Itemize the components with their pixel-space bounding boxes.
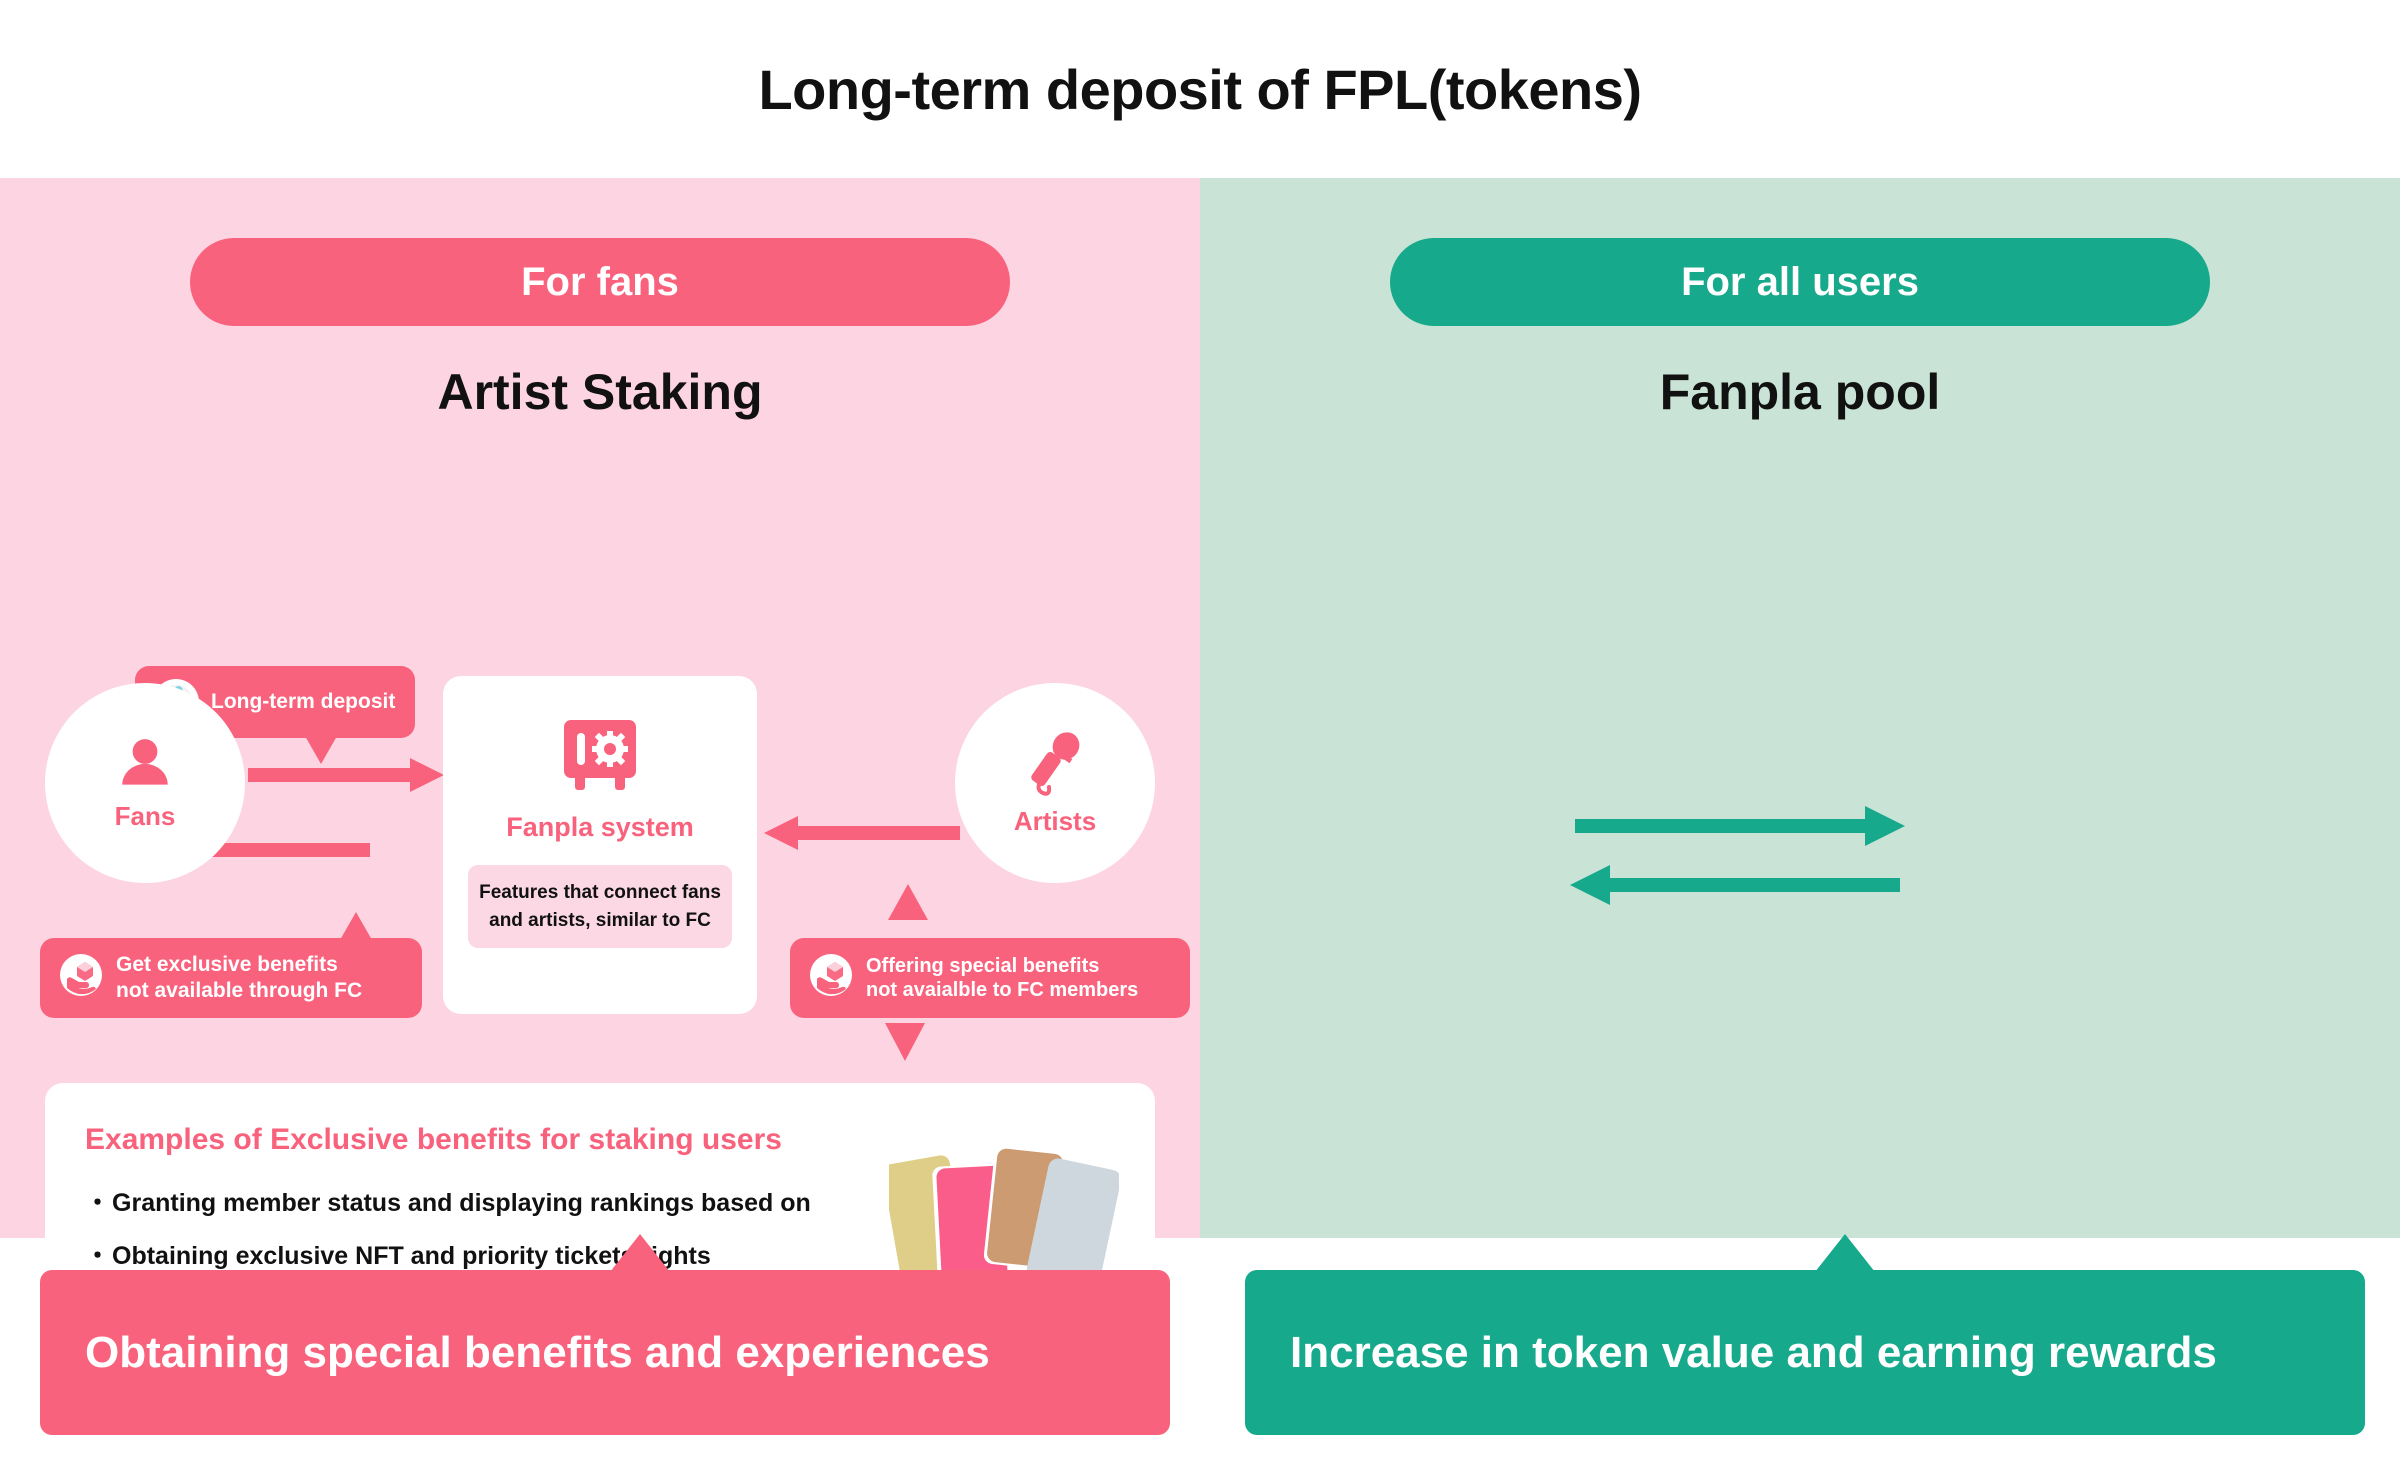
bubble-get-exclusive-benefits: Get exclusive benefits not available thr… bbox=[40, 938, 422, 1018]
line-2: not available through FC bbox=[116, 979, 362, 1002]
person-icon bbox=[114, 735, 176, 797]
bubble-long-term-deposit-label: Long-term deposit bbox=[211, 689, 395, 715]
arrow-deposit-right bbox=[1575, 806, 1905, 846]
node-artists: Artists bbox=[955, 683, 1155, 883]
offering-bubble-tail-up bbox=[888, 884, 928, 920]
note-line-1: Features that connect fans bbox=[478, 879, 722, 907]
pill-for-fans-label: For fans bbox=[521, 260, 679, 305]
banner-left-label: Obtaining special benefits and experienc… bbox=[85, 1328, 990, 1378]
banner-obtaining-special-benefits: Obtaining special benefits and experienc… bbox=[40, 1270, 1170, 1435]
examples-title: Examples of Exclusive benefits for staki… bbox=[85, 1123, 782, 1157]
heading-fanpla-pool: Fanpla pool bbox=[1200, 363, 2400, 421]
list-item: Obtaining exclusive NFT and priority tic… bbox=[85, 1236, 811, 1272]
page-title: Long-term deposit of FPL(tokens) bbox=[0, 0, 2400, 178]
panel-for-all-users: For all users Fanpla pool Fans Arti bbox=[1200, 178, 2400, 1238]
heading-artist-staking: Artist Staking bbox=[0, 363, 1200, 421]
node-fans: Fans bbox=[45, 683, 245, 883]
safe-vault-icon bbox=[557, 718, 643, 798]
line-2: not avaialble to FC members bbox=[866, 979, 1138, 1001]
bubble-get-exclusive-benefits-text: Get exclusive benefits not available thr… bbox=[116, 952, 362, 1003]
banner-increase-token-value: Increase in token value and earning rewa… bbox=[1245, 1270, 2365, 1435]
offering-bubble-tail-down bbox=[885, 1023, 925, 1061]
line-1: Get exclusive benefits bbox=[116, 953, 338, 976]
pill-for-all-users: For all users bbox=[1390, 238, 2210, 326]
pill-for-all-users-label: For all users bbox=[1681, 260, 1919, 305]
microphone-icon bbox=[1022, 730, 1088, 802]
bubble-offering-special-benefits: Offering special benefits not avaialble … bbox=[790, 938, 1190, 1018]
node-fans-label: Fans bbox=[115, 801, 176, 832]
card-fanpla-system-left-note: Features that connect fans and artists, … bbox=[468, 865, 732, 948]
banner-right-label: Increase in token value and earning rewa… bbox=[1290, 1328, 2217, 1378]
card-fanpla-system-left-title: Fanpla system bbox=[506, 812, 694, 843]
panel-for-fans: For fans Artist Staking bbox=[0, 178, 1200, 1238]
line-1: Offering special benefits bbox=[866, 955, 1099, 977]
note-line-2: and artists, similar to FC bbox=[478, 907, 722, 935]
card-fanpla-system-left: Fanpla system Features that connect fans… bbox=[443, 676, 757, 1014]
list-item: Granting member status and displaying ra… bbox=[85, 1183, 811, 1219]
node-artists-label: Artists bbox=[1014, 806, 1096, 837]
arrow-withdraw-left bbox=[1570, 865, 1900, 905]
hand-holding-gift-icon bbox=[58, 952, 104, 1004]
arrow-fans-to-system bbox=[248, 758, 444, 792]
arrow-artists-to-system bbox=[764, 816, 960, 850]
right-panel-arrows bbox=[1200, 178, 2400, 1238]
hand-holding-gift-icon bbox=[808, 952, 854, 1004]
bubble-offering-special-benefits-text: Offering special benefits not avaialble … bbox=[866, 954, 1138, 1003]
pill-for-fans: For fans bbox=[190, 238, 1010, 326]
